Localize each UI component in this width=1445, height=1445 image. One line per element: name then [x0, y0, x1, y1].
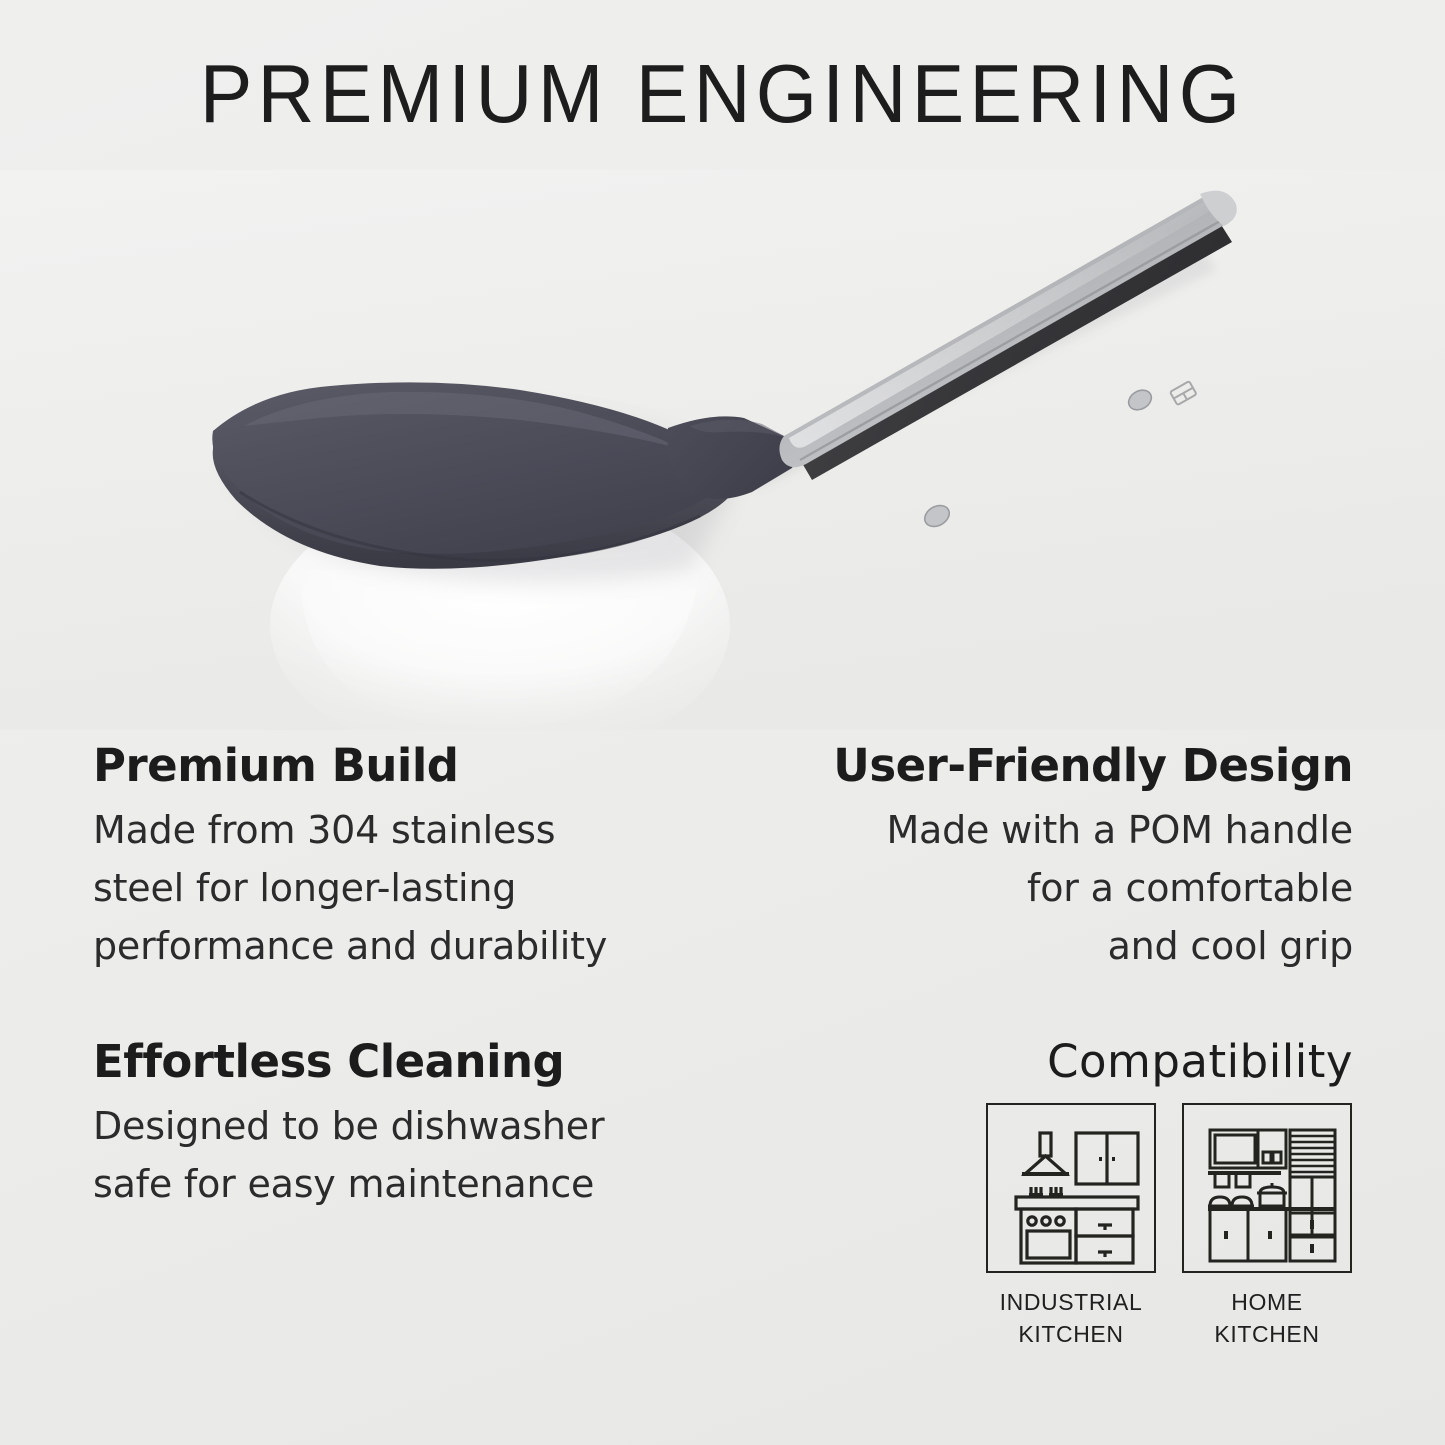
label-line-1: INDUSTRIAL: [1000, 1287, 1143, 1318]
feature-body-effortless-cleaning: Designed to be dishwasher safe for easy …: [93, 1098, 733, 1214]
feature-line: and cool grip: [733, 918, 1353, 976]
feature-line: performance and durability: [93, 918, 733, 976]
feature-line: steel for longer-lasting: [93, 860, 733, 918]
feature-line: Designed to be dishwasher: [93, 1098, 733, 1156]
label-line-2: KITCHEN: [1214, 1319, 1319, 1350]
home-kitchen-icon-box: [1182, 1103, 1352, 1273]
feature-premium-build: Premium Build Made from 304 stainless st…: [93, 742, 733, 976]
page-title: PREMIUM ENGINEERING: [36, 52, 1409, 135]
feature-title-user-friendly-design: User-Friendly Design: [733, 742, 1353, 789]
feature-body-premium-build: Made from 304 stainless steel for longer…: [93, 802, 733, 975]
feature-title-compatibility: Compatibility: [733, 1038, 1353, 1085]
compatibility-icon-row: INDUSTRIAL KITCHEN: [733, 1103, 1353, 1350]
industrial-kitchen-label: INDUSTRIAL KITCHEN: [1000, 1287, 1143, 1350]
feature-effortless-cleaning: Effortless Cleaning Designed to be dishw…: [93, 1038, 733, 1214]
industrial-kitchen-icon: [988, 1105, 1154, 1271]
feature-line: safe for easy maintenance: [93, 1156, 733, 1214]
home-kitchen-icon: [1184, 1105, 1350, 1271]
product-image: [0, 170, 1445, 730]
feature-title-effortless-cleaning: Effortless Cleaning: [93, 1038, 733, 1085]
feature-line: for a comfortable: [733, 860, 1353, 918]
feature-compatibility: Compatibility: [733, 1038, 1353, 1350]
feature-title-premium-build: Premium Build: [93, 742, 733, 789]
feature-line: Made from 304 stainless: [93, 802, 733, 860]
feature-body-user-friendly-design: Made with a POM handle for a comfortable…: [733, 802, 1353, 975]
spatula-illustration: [0, 170, 1445, 730]
label-line-1: HOME: [1214, 1287, 1319, 1318]
compatibility-item-home-kitchen[interactable]: HOME KITCHEN: [1181, 1103, 1353, 1350]
feature-line: Made with a POM handle: [733, 802, 1353, 860]
infographic-page: PREMIUM ENGINEERING: [0, 0, 1445, 1445]
home-kitchen-label: HOME KITCHEN: [1214, 1287, 1319, 1350]
industrial-kitchen-icon-box: [986, 1103, 1156, 1273]
feature-user-friendly-design: User-Friendly Design Made with a POM han…: [733, 742, 1353, 976]
label-line-2: KITCHEN: [1000, 1319, 1143, 1350]
compatibility-item-industrial-kitchen[interactable]: INDUSTRIAL KITCHEN: [985, 1103, 1157, 1350]
